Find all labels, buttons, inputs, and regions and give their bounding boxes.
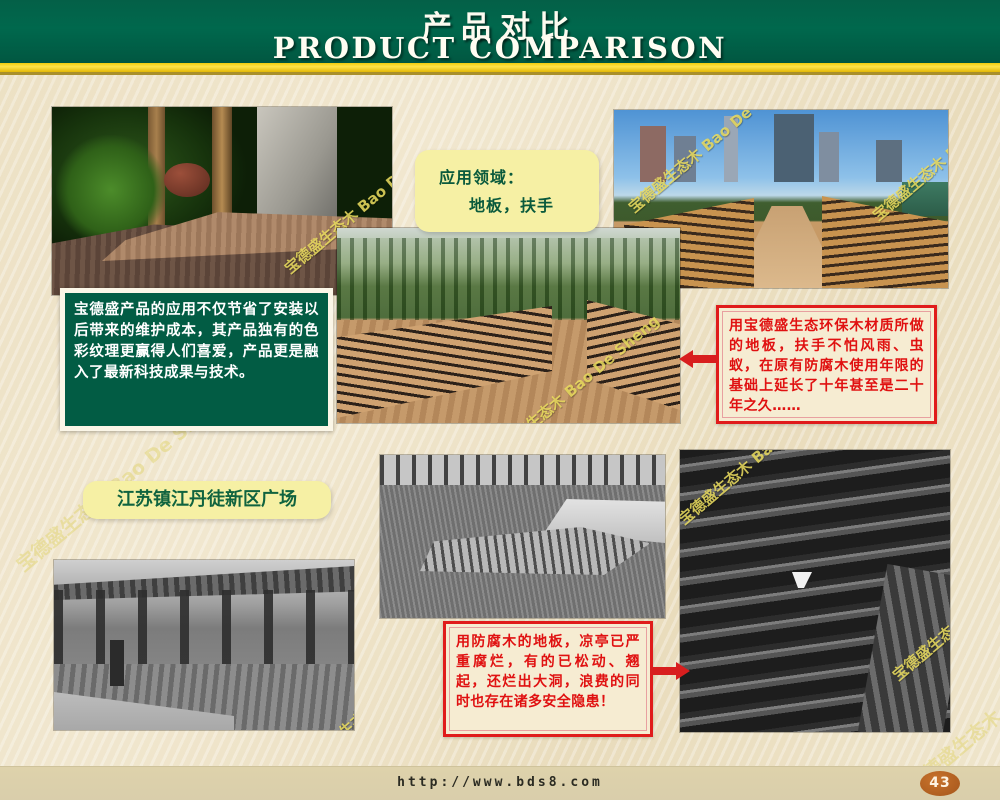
callout-red-problem-text: 用防腐木的地板，凉亭已严重腐烂，有的已松动、翘起，还烂出大洞，浪费的同时也存在诸…	[446, 624, 650, 720]
arrow-right-icon	[650, 660, 690, 682]
photo-detail-building-3	[724, 116, 738, 182]
callout-location-text: 江苏镇江丹徒新区广场	[83, 481, 331, 519]
photo-detail-building-6	[876, 140, 902, 182]
callout-green-benefit-text: 宝德盛产品的应用不仅节省了安装以后带来的维护成本，其产品独有的色彩纹理更赢得人们…	[65, 293, 328, 384]
photo-detail-tree-line	[380, 455, 665, 489]
photo-bw-pavilion	[54, 560, 354, 730]
photo-detail-jar	[164, 163, 210, 197]
photo-bw-rotten-boards	[680, 450, 950, 732]
photo-detail-pillar-right	[212, 107, 232, 227]
photo-detail-building-2	[674, 136, 696, 182]
photo-detail-person	[110, 640, 124, 686]
photo-detail-building-5	[819, 132, 839, 182]
callout-red-benefit-text: 用宝德盛生态环保木材质所做的地板，扶手不怕风雨、虫蚁，在原有防腐木使用年限的基础…	[719, 308, 934, 424]
photo-detail-building-1	[640, 126, 666, 182]
photo-detail-wall	[257, 107, 337, 227]
page-root: 宝德盛生态木 Bao De Sheng 产品对比 PRODUCT COMPARI…	[0, 0, 1000, 800]
gold-divider-bar	[0, 63, 1000, 72]
photo-detail-water	[902, 182, 948, 216]
photo-bw-damaged-deck	[380, 455, 665, 618]
footer-url[interactable]: http://www.bds8.com	[0, 775, 1000, 790]
callout-application-line2: 地板，扶手	[469, 192, 599, 216]
arrow-left-icon	[679, 348, 717, 370]
callout-red-benefit: 用宝德盛生态环保木材质所做的地板，扶手不怕风雨、虫蚁，在原有防腐木使用年限的基础…	[716, 305, 937, 424]
page-title-en: PRODUCT COMPARISON	[0, 31, 1000, 63]
photo-detail-trees	[337, 238, 680, 320]
gold-divider-shadow	[0, 72, 1000, 75]
callout-application-line1: 应用领域：	[439, 164, 599, 188]
page-number-badge: 43	[920, 771, 960, 796]
callout-application: 应用领域： 地板，扶手	[415, 150, 599, 232]
callout-location: 江苏镇江丹徒新区广场	[83, 481, 331, 519]
callout-red-problem: 用防腐木的地板，凉亭已严重腐烂，有的已松动、翘起，还烂出大洞，浪费的同时也存在诸…	[443, 621, 653, 737]
page-header: 宝德盛生态木 Bao De Sheng 产品对比 PRODUCT COMPARI…	[0, 0, 1000, 63]
page-footer: http://www.bds8.com	[0, 766, 1000, 800]
photo-benches: 宝德盛生态木 Bao De Sheng	[337, 228, 680, 423]
photo-detail-building-4	[774, 114, 814, 182]
callout-green-benefit: 宝德盛产品的应用不仅节省了安装以后带来的维护成本，其产品独有的色彩纹理更赢得人们…	[60, 288, 333, 431]
photo-detail-posts	[54, 590, 354, 668]
